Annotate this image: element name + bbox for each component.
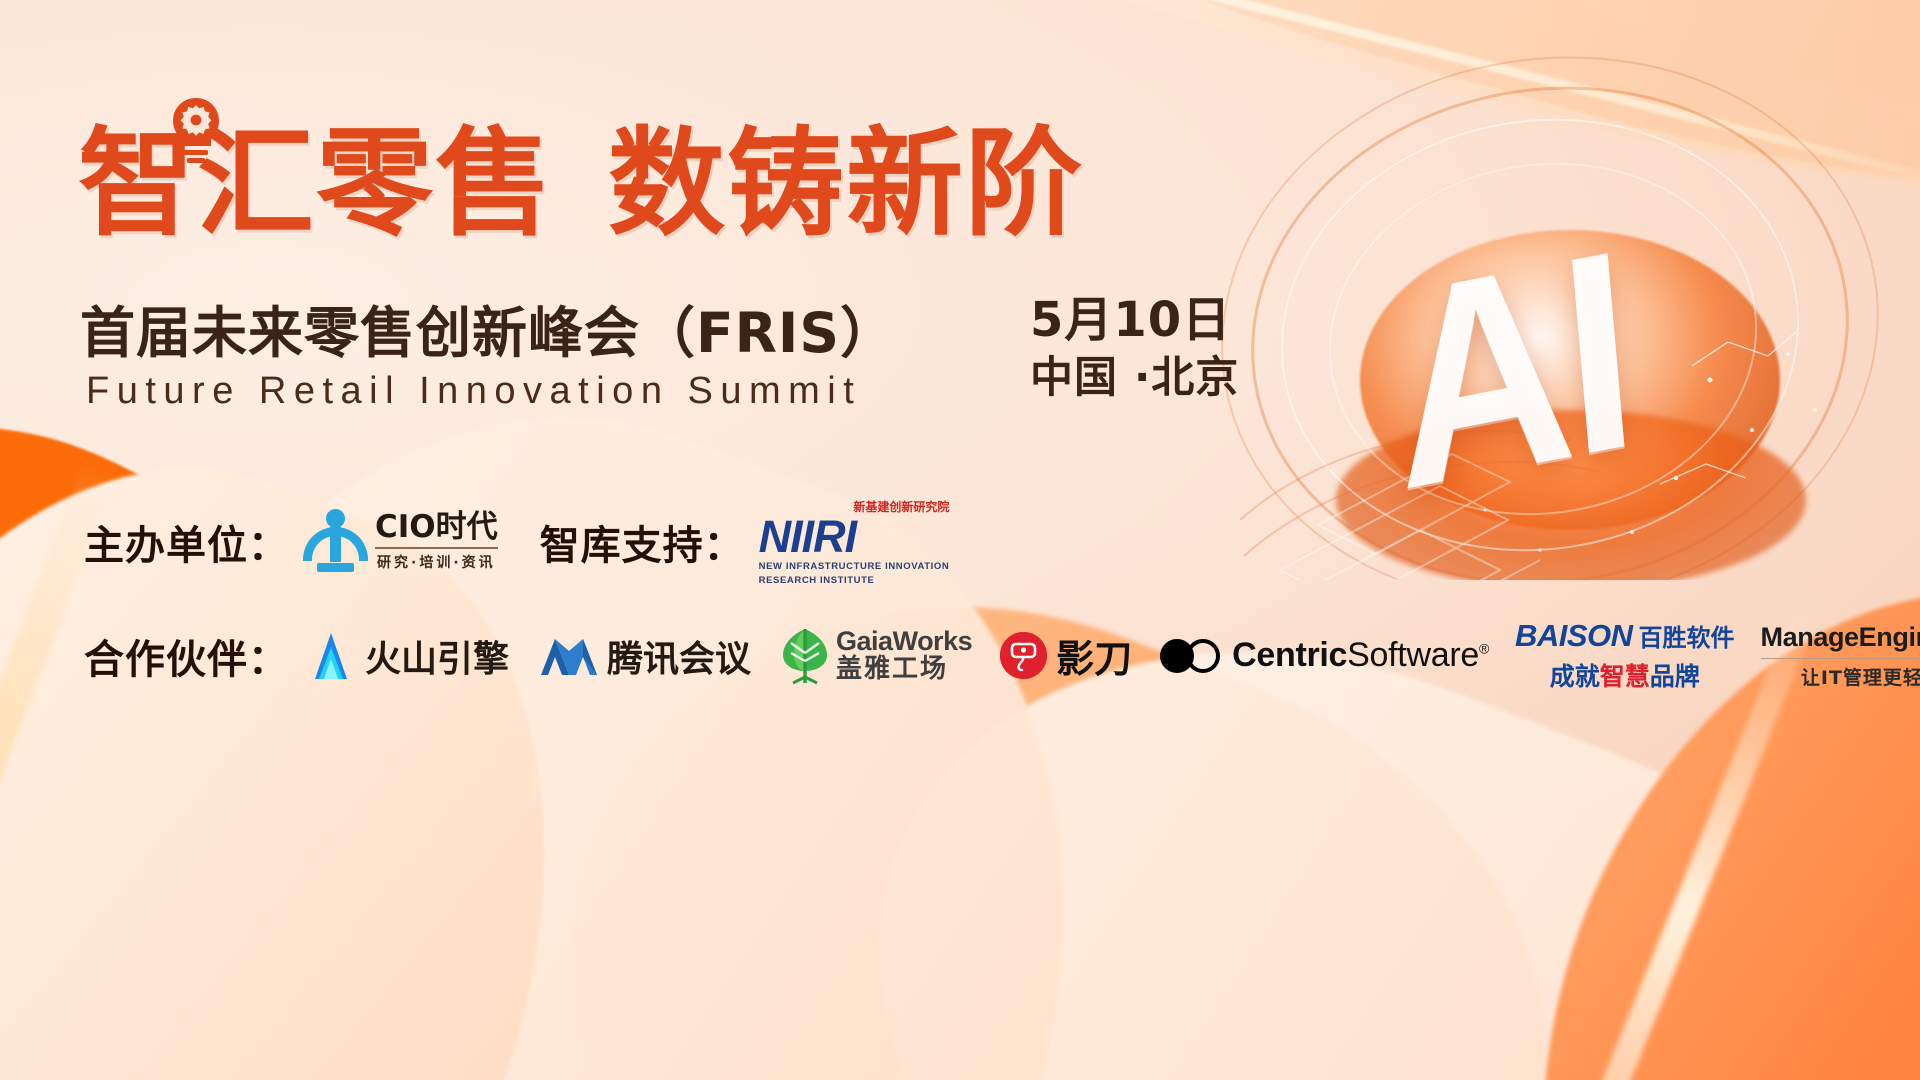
- logo-manageengine[interactable]: ManageEngine 卓豪 让IT管理更轻松高效: [1761, 621, 1920, 690]
- logo-tencent-meeting[interactable]: 腾讯会议: [539, 630, 751, 682]
- partners-row: 合作伙伴： 火山引擎 腾讯会议: [84, 618, 1920, 693]
- tencent-meeting-name: 腾讯会议: [607, 630, 751, 682]
- volcano-engine-name: 火山引擎: [365, 630, 509, 682]
- logo-baison[interactable]: BAISON 百胜软件 成就智慧品牌: [1515, 618, 1735, 693]
- organizer-thinktank-row: 主办单位： CIO时代 研究·培训·资讯 智库支持： 新基建创新研究院 NIIR…: [84, 498, 949, 587]
- niiri-subtitle-line2: RESEARCH INSTITUTE: [759, 575, 875, 587]
- baison-slogan: 成就智慧品牌: [1550, 657, 1700, 693]
- orb-sparkles: [1240, 80, 1880, 580]
- logo-gaiaworks[interactable]: GaiaWorks 盖雅工场: [781, 627, 972, 685]
- logo-cio-era[interactable]: CIO时代 研究·培训·资讯: [299, 509, 498, 575]
- orb-group: AI: [1240, 80, 1880, 580]
- lightbulb-gear-icon: [168, 96, 224, 170]
- logo-niiri[interactable]: 新基建创新研究院 NIIRI NEW INFRASTRUCTURE INNOVA…: [759, 498, 950, 587]
- partners-label: 合作伙伴：: [84, 627, 289, 685]
- niiri-chinese-name: 新基建创新研究院: [853, 498, 949, 515]
- organizer-label: 主办单位：: [84, 513, 289, 571]
- date-location-block: 5月10日 中国 ·北京: [1030, 292, 1220, 404]
- person-arc-icon: [299, 509, 371, 575]
- page-title: 智汇零售数铸新阶: [78, 88, 1084, 258]
- subtitle-english: Future Retail Innovation Summit: [86, 370, 861, 413]
- tree-icon: [781, 627, 829, 685]
- baison-slogan-part-a: 成就: [1550, 662, 1600, 691]
- yingdao-name: 影刀: [1056, 628, 1132, 683]
- event-date: 5月10日: [1030, 292, 1220, 349]
- banner-canvas: AI 智汇零售数铸新阶 首届: [0, 0, 1920, 1080]
- ai-orb-artwork: AI: [1180, 0, 1920, 580]
- baison-chinese-name: 百胜软件: [1639, 618, 1735, 653]
- registered-mark: ®: [1479, 641, 1489, 657]
- title-part-2: 数铸新阶: [608, 115, 1084, 252]
- baison-slogan-part-b: 智慧: [1600, 662, 1650, 691]
- centric-light-part: Software: [1347, 636, 1479, 674]
- thinktank-label: 智库支持：: [540, 513, 745, 571]
- divider: [375, 547, 498, 549]
- infinity-icon: [1160, 639, 1222, 673]
- centric-bold-part: Centric: [1232, 636, 1347, 674]
- mountain-icon: [305, 631, 357, 681]
- niiri-subtitle-line1: NEW INFRASTRUCTURE INNOVATION: [759, 561, 950, 573]
- title-part-1: 智汇零售: [78, 115, 554, 252]
- gaiaworks-chinese-name: 盖雅工场: [836, 656, 972, 683]
- baison-english-name: BAISON: [1515, 618, 1633, 654]
- double-peak-icon: [539, 635, 599, 677]
- logo-yingdao[interactable]: 影刀: [1000, 628, 1132, 683]
- manageengine-tagline: 让IT管理更轻松高效: [1801, 663, 1920, 690]
- circle-balloon-icon: [1000, 632, 1047, 679]
- divider: [1761, 658, 1920, 659]
- baison-slogan-part-c: 品牌: [1650, 662, 1700, 691]
- subtitle-chinese: 首届未来零售创新峰会（FRIS）: [80, 288, 896, 368]
- manageengine-english-name: ManageEngine: [1761, 622, 1920, 653]
- cio-era-name: CIO时代: [375, 512, 498, 543]
- centric-software-wordmark: CentricSoftware®: [1232, 636, 1489, 675]
- gaiaworks-english-name: GaiaWorks: [836, 628, 972, 656]
- event-location: 中国 ·北京: [1030, 353, 1220, 405]
- cio-era-tagline: 研究·培训·资讯: [375, 552, 498, 572]
- niiri-wordmark: NIIRI: [759, 516, 857, 559]
- logo-centric-software[interactable]: CentricSoftware®: [1160, 636, 1489, 675]
- logo-volcano-engine[interactable]: 火山引擎: [305, 630, 509, 682]
